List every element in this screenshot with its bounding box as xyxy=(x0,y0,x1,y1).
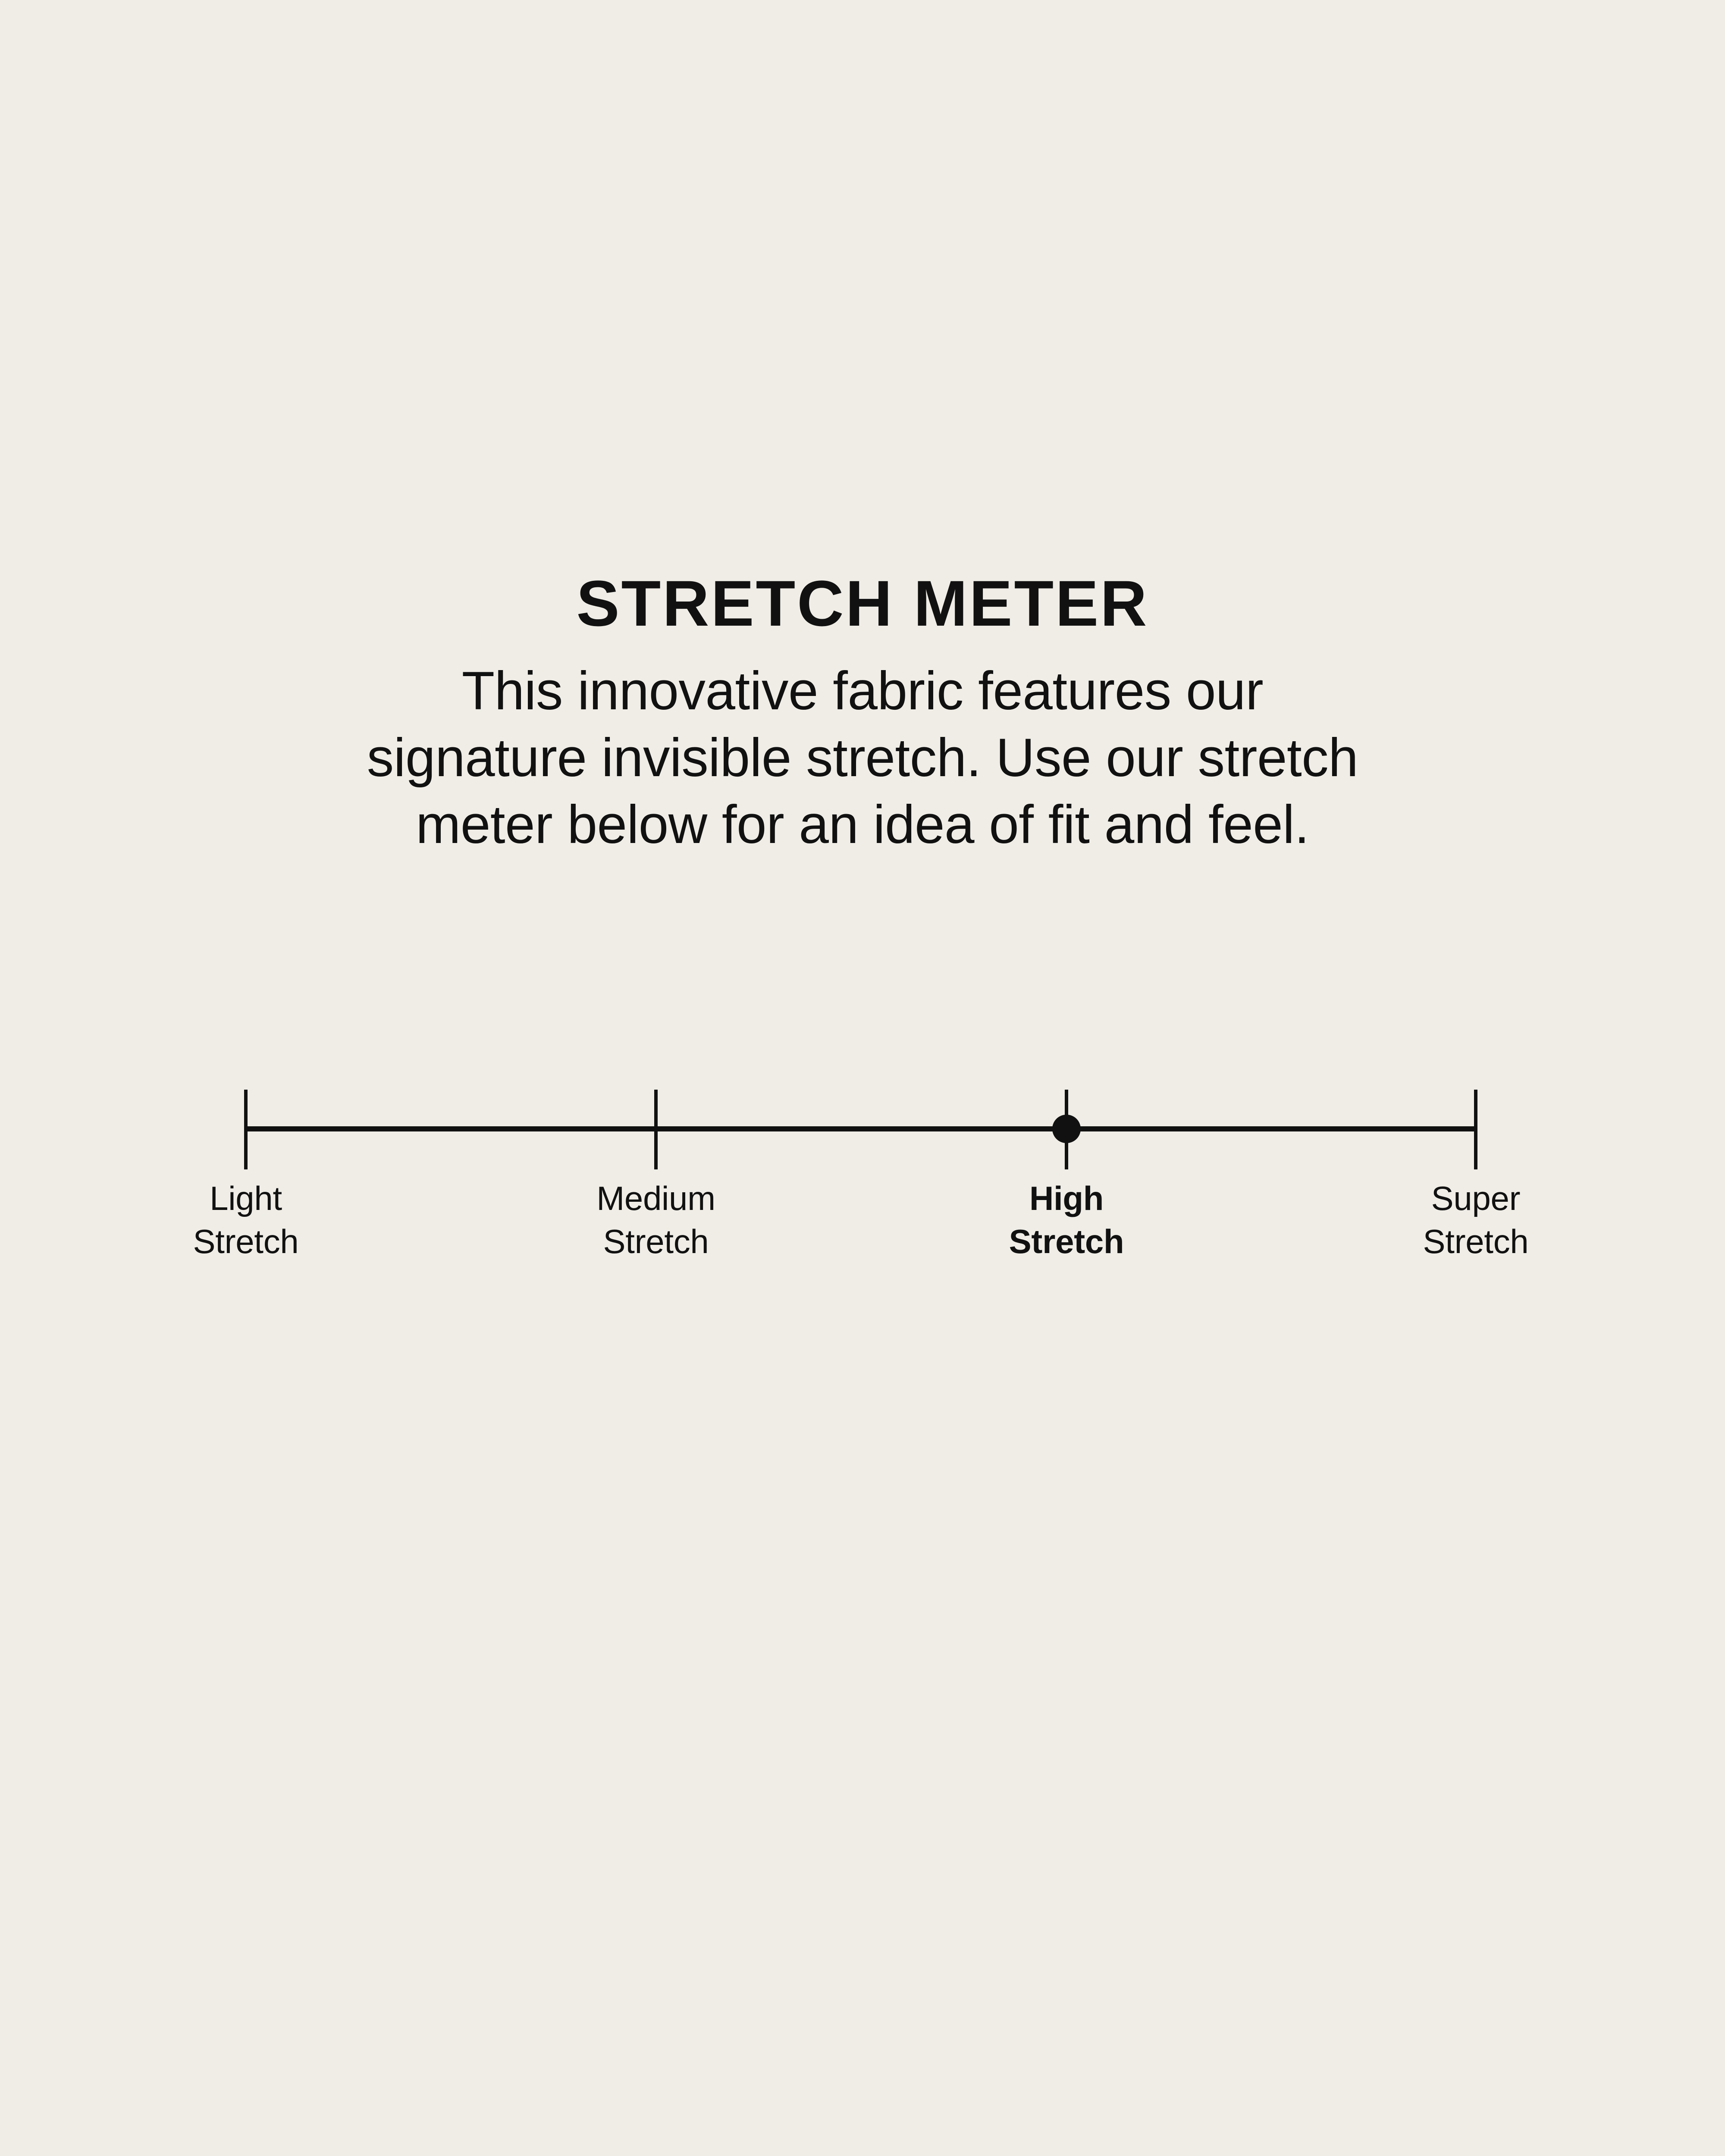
meter-track-area xyxy=(246,1035,1476,1173)
meter-label-medium-stretch-line-2: Stretch xyxy=(522,1220,790,1263)
meter-label-high-stretch-line-2: Stretch xyxy=(933,1220,1200,1263)
description-line-1: This innovative fabric features our xyxy=(0,658,1725,724)
stretch-meter-module: STRETCH METER This innovative fabric fea… xyxy=(0,0,1725,2156)
meter-label-high-stretch-line-1: High xyxy=(933,1177,1200,1220)
meter-label-medium-stretch-line-1: Medium xyxy=(522,1177,790,1220)
meter-label-light-stretch-line-2: Stretch xyxy=(112,1220,379,1263)
meter-tick-1[interactable] xyxy=(654,1090,658,1169)
meter-label-light-stretch[interactable]: Light Stretch xyxy=(112,1177,379,1263)
meter-label-high-stretch[interactable]: High Stretch xyxy=(933,1177,1200,1263)
meter-label-light-stretch-line-1: Light xyxy=(112,1177,379,1220)
description-line-3: meter below for an idea of fit and feel. xyxy=(0,791,1725,858)
meter-label-row: Light Stretch Medium Stretch High Stretc… xyxy=(0,1177,1725,1307)
meter-label-medium-stretch[interactable]: Medium Stretch xyxy=(522,1177,790,1263)
stretch-meter-scale: Light Stretch Medium Stretch High Stretc… xyxy=(0,1035,1725,1380)
heading-block: STRETCH METER This innovative fabric fea… xyxy=(0,569,1725,858)
meter-label-super-stretch[interactable]: Super Stretch xyxy=(1342,1177,1609,1263)
meter-tick-3[interactable] xyxy=(1474,1090,1477,1169)
description-line-2: signature invisible stretch. Use our str… xyxy=(0,724,1725,791)
meter-label-super-stretch-line-1: Super xyxy=(1342,1177,1609,1220)
meter-axis-line xyxy=(246,1126,1476,1131)
meter-tick-0[interactable] xyxy=(244,1090,248,1169)
meter-label-super-stretch-line-2: Stretch xyxy=(1342,1220,1609,1263)
description-text: This innovative fabric features our sign… xyxy=(0,638,1725,858)
meter-marker-dot xyxy=(1052,1115,1081,1143)
page-title: STRETCH METER xyxy=(0,569,1725,638)
